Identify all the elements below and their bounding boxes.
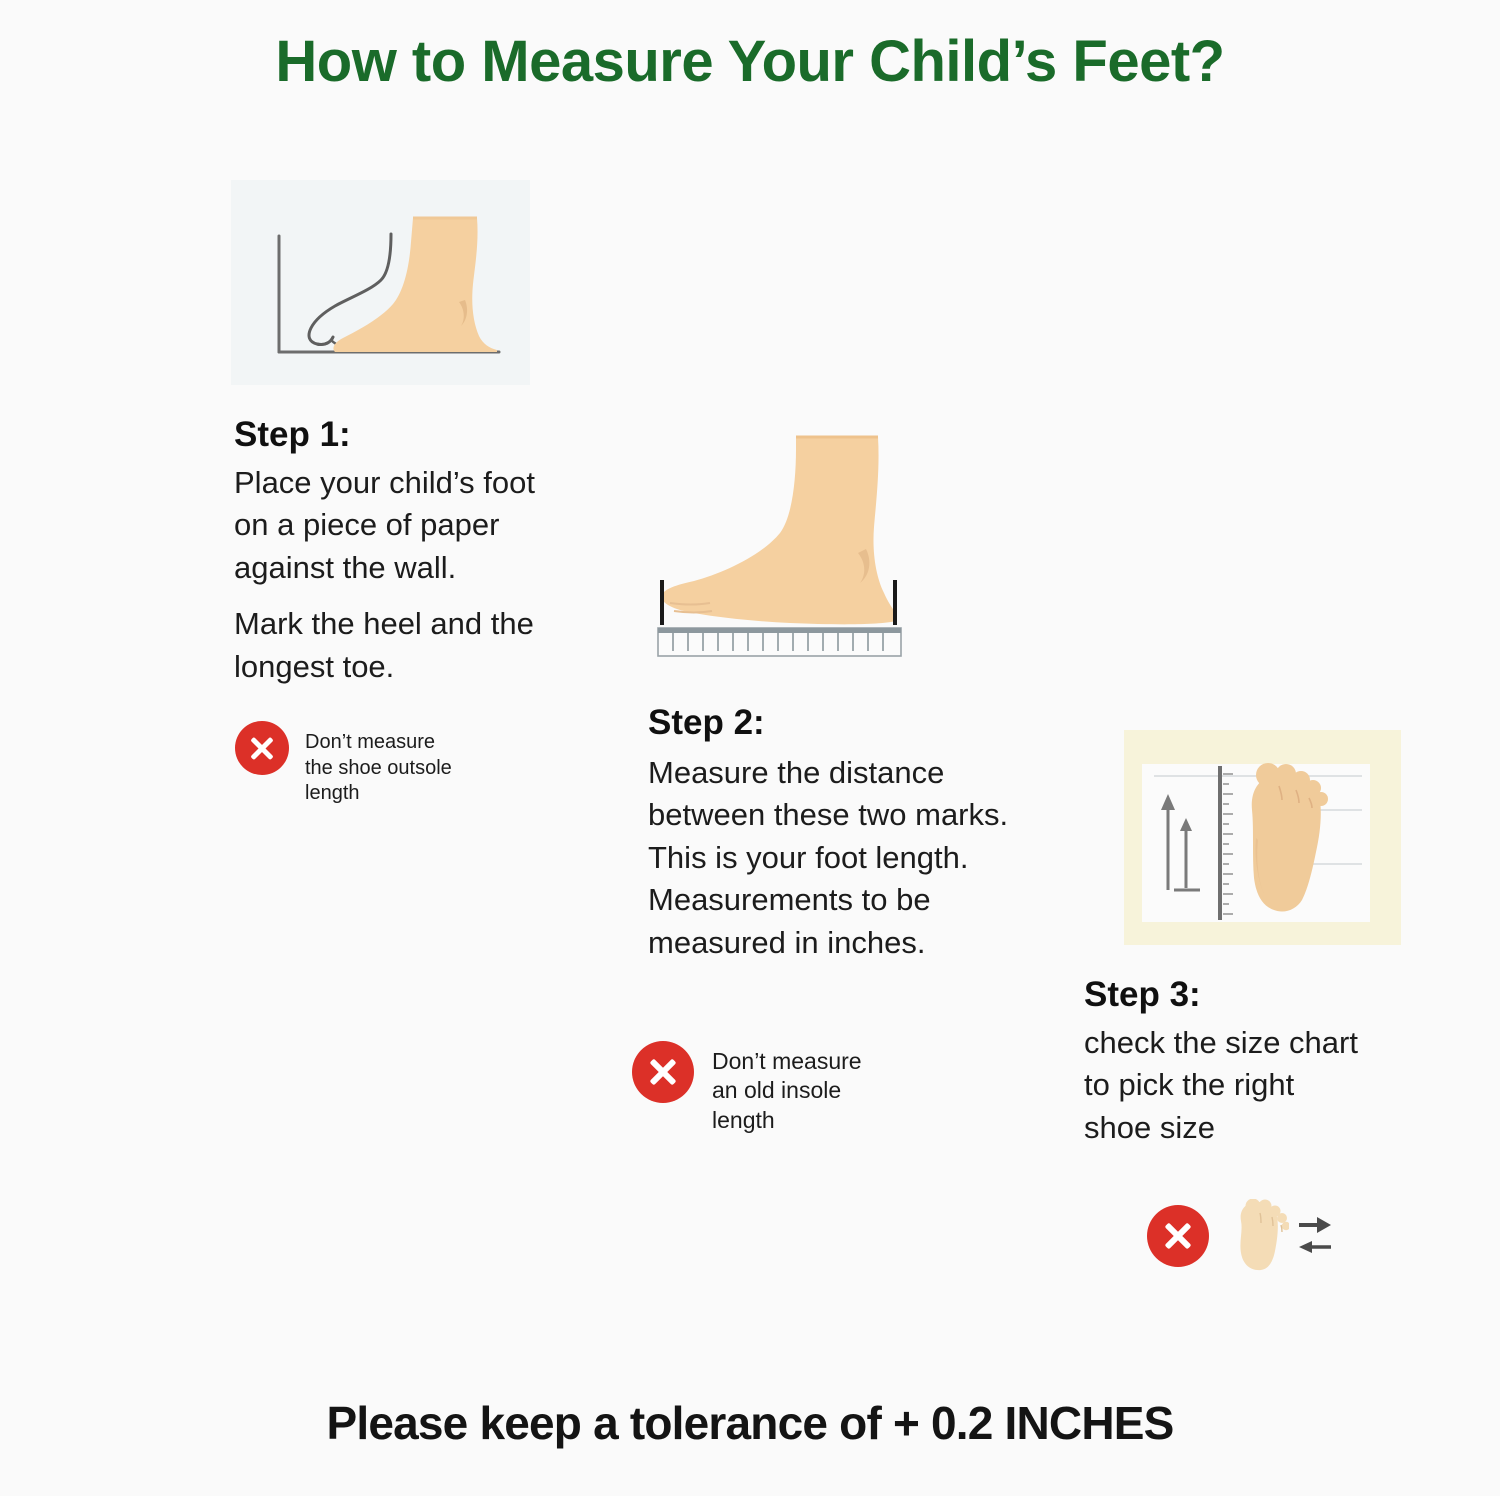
arrow-left-icon xyxy=(1299,1241,1312,1253)
step-3-body: check the size chart to pick the right s… xyxy=(1084,1022,1358,1149)
resize-arrows-icon xyxy=(1295,1208,1335,1264)
step-3-line-3: shoe size xyxy=(1084,1107,1358,1149)
step-1-line-2: on a piece of paper xyxy=(234,504,535,546)
step-1-heading: Step 1: xyxy=(234,415,351,455)
step-2-line-2: between these two marks. xyxy=(648,794,1008,836)
step-2-heading: Step 2: xyxy=(648,703,765,743)
step-1-paragraph-gap xyxy=(234,589,535,603)
step-2-warning-text: Don’t measure an old insole length xyxy=(712,1041,862,1135)
step-2-warning-line-3: length xyxy=(712,1106,862,1135)
step-2-line-4: Measurements to be xyxy=(648,879,1008,921)
step-2-warning-line-2: an old insole xyxy=(712,1076,862,1105)
step-1-line-4: Mark the heel and the xyxy=(234,603,535,645)
arrow-right-icon xyxy=(1317,1217,1331,1233)
step-1-warning-line-3: length xyxy=(305,781,452,807)
step-1-warning: Don’t measure the shoe outsole length xyxy=(235,721,452,807)
foot-sole-with-vertical-ruler-illustration xyxy=(1124,730,1401,945)
foot-side-view-with-ruler-illustration xyxy=(640,425,940,665)
foot-sole-icon xyxy=(1227,1199,1289,1273)
step-2-line-1: Measure the distance xyxy=(648,752,1008,794)
step-1-warning-line-2: the shoe outsole xyxy=(305,756,452,782)
step-1-warning-line-1: Don’t measure xyxy=(305,730,452,756)
step-2-body: Measure the distance between these two m… xyxy=(648,752,1008,964)
step-3-line-1: check the size chart xyxy=(1084,1022,1358,1064)
step-1-line-5: longest toe. xyxy=(234,646,535,688)
step-2-line-3: This is your foot length. xyxy=(648,837,1008,879)
tolerance-note: Please keep a tolerance of + 0.2 INCHES xyxy=(0,1396,1500,1450)
step-2-warning: Don’t measure an old insole length xyxy=(632,1041,862,1135)
page-title: How to Measure Your Child’s Feet? xyxy=(0,28,1500,95)
step-1-illustration-panel xyxy=(231,180,530,385)
step-3-illustration-panel xyxy=(1124,730,1401,945)
step-1-warning-text: Don’t measure the shoe outsole length xyxy=(305,721,452,807)
step-3-line-2: to pick the right xyxy=(1084,1064,1358,1106)
red-x-circle-icon xyxy=(632,1041,694,1103)
infographic-page: How to Measure Your Child’s Feet? Step 1… xyxy=(0,0,1500,1496)
step-3-warning xyxy=(1147,1199,1335,1273)
red-x-circle-icon xyxy=(1147,1205,1209,1267)
foot-side-view-against-wall-illustration xyxy=(231,180,530,385)
step-2-line-5: measured in inches. xyxy=(648,922,1008,964)
step-2-warning-line-1: Don’t measure xyxy=(712,1047,862,1076)
step-3-heading: Step 3: xyxy=(1084,975,1201,1015)
step-1-body: Place your child’s foot on a piece of pa… xyxy=(234,462,535,688)
step-1-line-3: against the wall. xyxy=(234,547,535,589)
step-1-line-1: Place your child’s foot xyxy=(234,462,535,504)
red-x-circle-icon xyxy=(235,721,289,775)
